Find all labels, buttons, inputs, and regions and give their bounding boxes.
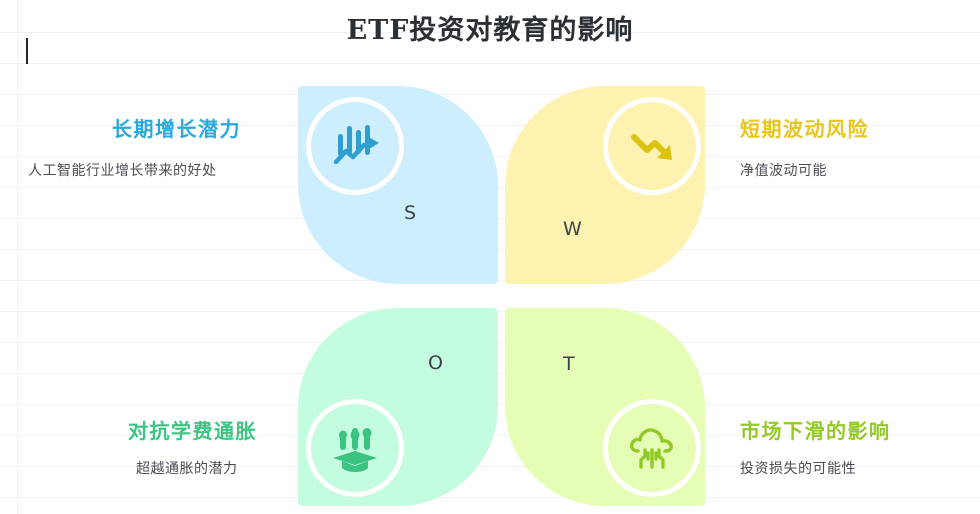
swot-diagram-canvas: ETF投资对教育的影响 S W O T — [0, 0, 980, 514]
quadrant-heading-strengths: 长期增长潜力 — [112, 113, 241, 142]
quadrant-heading-threats: 市场下滑的影响 — [740, 415, 891, 444]
page-title: ETF投资对教育的影响 — [0, 8, 980, 47]
quadrant-description-threats: 投资损失的可能性 — [740, 458, 856, 478]
quadrant-description-weaknesses: 净值波动可能 — [740, 160, 827, 180]
quadrant-description-strengths: 人工智能行业增长带来的好处 — [28, 160, 217, 180]
icon-bubble-threats[interactable] — [608, 404, 696, 492]
icon-bubble-opportunities[interactable] — [311, 404, 399, 492]
quadrant-description-opportunities: 超越通胀的潜力 — [136, 458, 238, 478]
graduation-cap-chart-icon — [329, 422, 381, 474]
quadrant-heading-weaknesses: 短期波动风险 — [740, 113, 869, 142]
icon-bubble-weaknesses[interactable] — [608, 102, 696, 190]
trend-down-arrow-icon — [626, 120, 678, 172]
quadrant-letter-s: S — [404, 202, 417, 224]
cloud-circuit-icon — [626, 422, 678, 474]
quadrant-letter-t: T — [563, 353, 576, 375]
icon-bubble-strengths[interactable] — [311, 102, 399, 190]
quadrant-heading-opportunities: 对抗学费通胀 — [128, 415, 257, 444]
notebook-margin-line — [17, 0, 18, 514]
quadrant-letter-w: W — [563, 218, 583, 240]
quadrant-letter-o: O — [428, 352, 444, 374]
stock-chart-up-icon — [329, 120, 381, 172]
